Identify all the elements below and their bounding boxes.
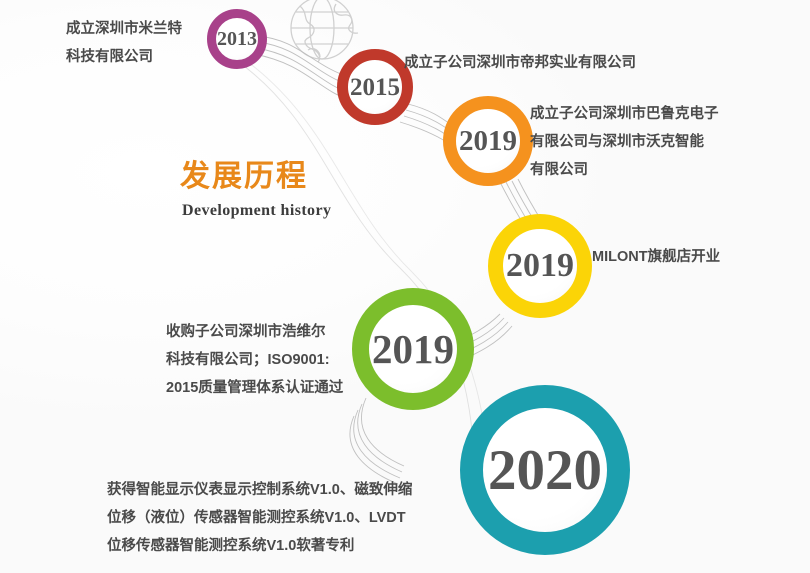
development-history-infographic: 2013 2015 2019 2019 2019 2020 成立深圳市米兰特 科… [0,0,810,573]
timeline-node-2015[interactable]: 2015 [337,49,413,125]
timeline-label-2015: 成立子公司深圳市帝邦实业有限公司 [404,50,704,76]
timeline-label-2019-yellow: MILONT旗舰店开业 [592,244,807,270]
timeline-label-2013: 成立深圳市米兰特 科技有限公司 [66,15,226,71]
timeline-label-2019-orange: 成立子公司深圳市巴鲁克电子 有限公司与深圳市沃克智能 有限公司 [530,100,810,184]
timeline-label-2020: 获得智能显示仪表显示控制系统V1.0、磁致伸缩 位移（液位）传感器智能测控系统V… [107,476,507,560]
page-title-cn: 发展历程 [180,160,331,195]
timeline-node-2019-orange[interactable]: 2019 [443,96,533,186]
page-title-block: 发展历程 Development history [180,160,331,220]
timeline-label-2019-green: 收购子公司深圳市浩维尔 科技有限公司；ISO9001: 2015质量管理体系认证… [166,318,396,402]
page-title-en: Development history [182,201,331,220]
timeline-year-label: 2019 [506,249,574,283]
timeline-year-label: 2019 [459,127,517,156]
timeline-year-label: 2015 [350,75,400,100]
timeline-node-2019-yellow[interactable]: 2019 [488,214,592,318]
